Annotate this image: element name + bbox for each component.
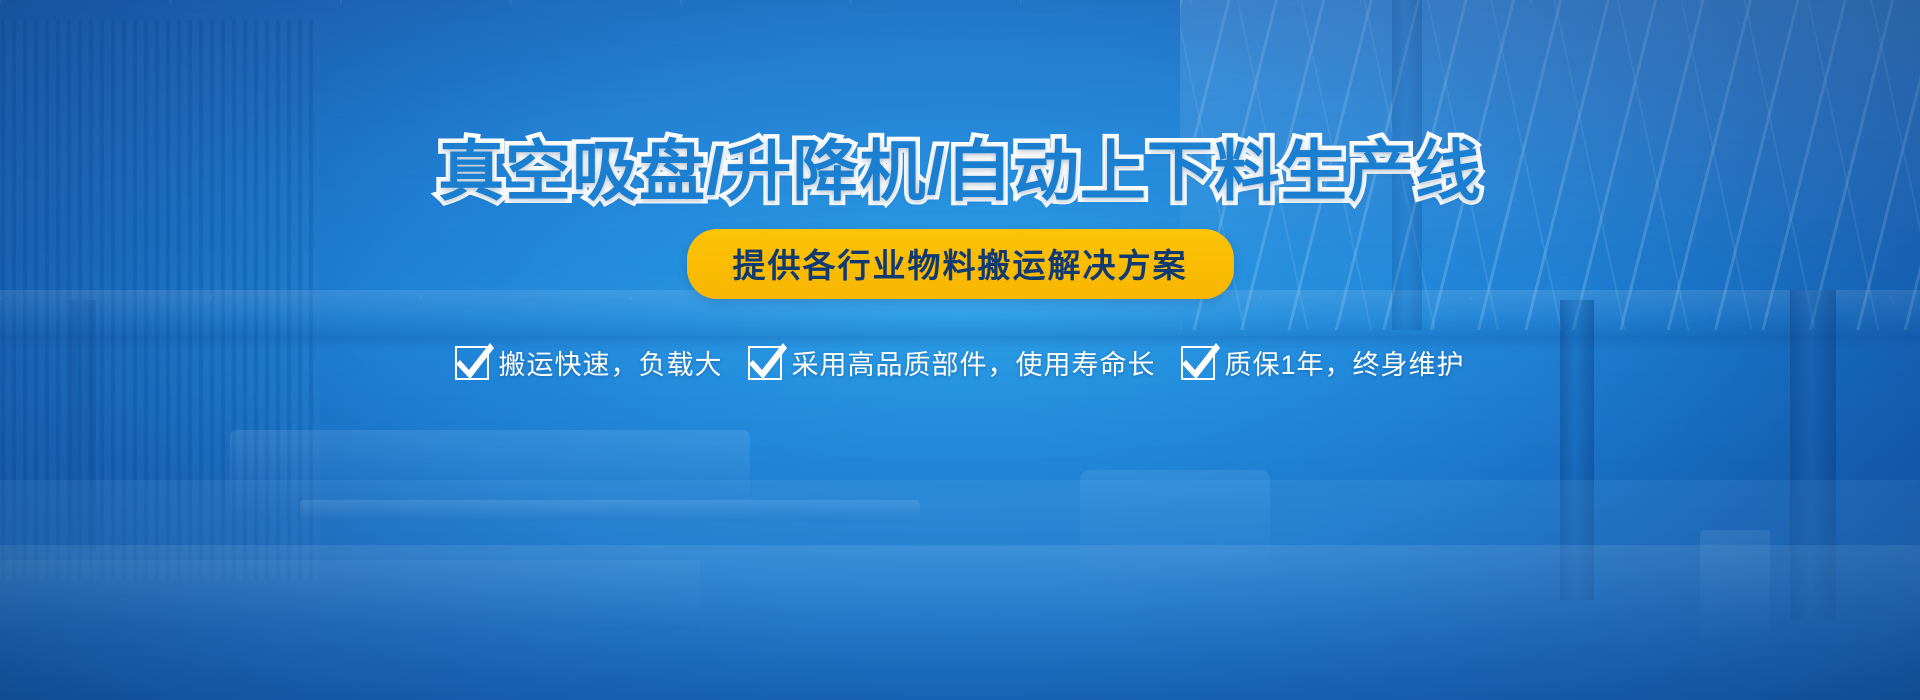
feature-label: 搬运快速，负载大 xyxy=(498,343,722,382)
check-icon xyxy=(1181,346,1215,380)
feature-label: 质保1年，终身维护 xyxy=(1224,343,1464,382)
banner-subtitle-pill[interactable]: 提供各行业物料搬运解决方案 xyxy=(687,229,1234,299)
banner-content: 真空吸盘/升降机/自动上下料生产线 提供各行业物料搬运解决方案 搬运快速，负载大… xyxy=(0,0,1920,700)
feature-list: 搬运快速，负载大 采用高品质部件，使用寿命长 质保1年，终身维护 xyxy=(455,343,1464,382)
promotional-banner: 真空吸盘/升降机/自动上下料生产线 提供各行业物料搬运解决方案 搬运快速，负载大… xyxy=(0,0,1920,700)
banner-headline: 真空吸盘/升降机/自动上下料生产线 xyxy=(438,136,1482,207)
check-icon xyxy=(455,346,489,380)
feature-item: 质保1年，终身维护 xyxy=(1181,343,1464,382)
feature-item: 采用高品质部件，使用寿命长 xyxy=(748,343,1155,382)
feature-item: 搬运快速，负载大 xyxy=(455,343,722,382)
feature-label: 采用高品质部件，使用寿命长 xyxy=(791,343,1155,382)
check-icon xyxy=(748,346,782,380)
